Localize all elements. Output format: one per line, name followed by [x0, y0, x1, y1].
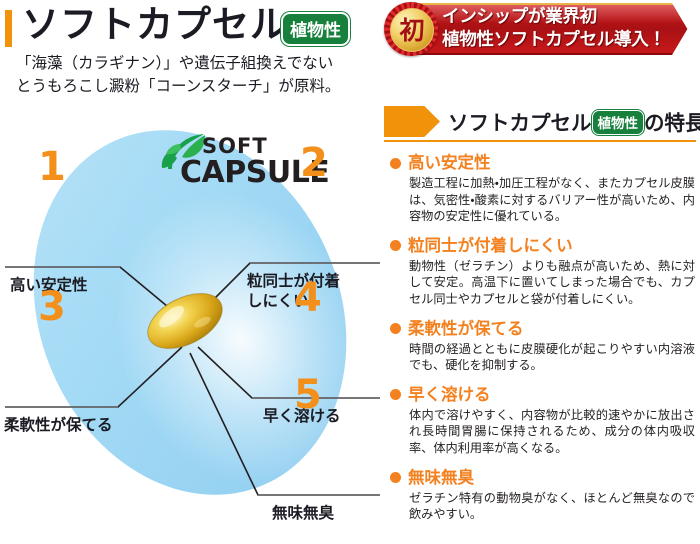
- callout-label-5: 無味無臭: [272, 503, 334, 523]
- feature-item: 高い安定性 製造工程に加熱・加圧工程がなく、またカプセル皮膜は、気密性・酸素に対…: [390, 152, 700, 225]
- features-panel-header: ソフトカプセル植物性の特長: [378, 100, 700, 142]
- features-vegetable-badge: 植物性: [592, 110, 645, 135]
- callout-label-3: 柔軟性が保てる: [4, 415, 113, 435]
- page-title: ソフトカプセル: [22, 2, 288, 48]
- softgel-capsule-icon: [143, 290, 227, 352]
- feature-title: 柔軟性が保てる: [408, 318, 524, 340]
- subtitle-line-1: 「海藻（カラギナン）」や遺伝子組換えでない: [16, 52, 376, 75]
- feature-heading: 高い安定性: [390, 152, 700, 174]
- first-medal-icon: 初: [384, 2, 438, 56]
- capsule-diagram: SOFT CAPSULE 1 高い安定性: [0, 95, 380, 535]
- feature-item: 柔軟性が保てる 時間の経過とともに皮膜硬化が起こりやすい内溶液でも、硬化を抑制す…: [390, 318, 700, 374]
- feature-body: 体内で溶けやすく、内容物が比較的速やかに放出され長時間胃腸に保持されるため、成分…: [409, 407, 695, 457]
- medal-disc: 初: [390, 8, 434, 52]
- feature-heading: 無味無臭: [390, 467, 700, 489]
- feature-title: 粒同士が付着しにくい: [408, 235, 573, 257]
- medal-label: 初: [399, 18, 424, 43]
- feature-heading: 早く溶ける: [390, 384, 700, 406]
- vegetable-badge: 植物性: [281, 12, 350, 46]
- bullet-dot-icon: [390, 323, 401, 334]
- callout-number-2: 2: [300, 143, 328, 183]
- features-title-prefix: ソフトカプセル: [448, 111, 592, 135]
- feature-item: 早く溶ける 体内で溶けやすく、内容物が比較的速やかに放出され長時間胃腸に保持され…: [390, 384, 700, 457]
- callout-number-4: 4: [294, 278, 322, 318]
- bullet-dot-icon: [390, 240, 401, 251]
- bullet-dot-icon: [390, 389, 401, 400]
- features-panel: ソフトカプセル植物性の特長 高い安定性 製造工程に加熱・加圧工程がなく、またカプ…: [378, 100, 700, 535]
- feature-heading: 粒同士が付着しにくい: [390, 235, 700, 257]
- feature-title: 無味無臭: [408, 467, 474, 489]
- infographic-root: ソフトカプセル 植物性 「海藻（カラギナン）」や遺伝子組換えでない とうもろこし…: [0, 0, 700, 535]
- feature-body: 時間の経過とともに皮膜硬化が起こりやすい内溶液でも、硬化を抑制する。: [409, 341, 695, 374]
- bullet-dot-icon: [390, 472, 401, 483]
- callout-number-3: 3: [38, 287, 66, 327]
- subtitle: 「海藻（カラギナン）」や遺伝子組換えでない とうもろこし澱粉「コーンスターチ」が…: [16, 52, 376, 98]
- callout-number-1: 1: [38, 147, 66, 187]
- features-panel-title: ソフトカプセル植物性の特長: [448, 106, 700, 137]
- feature-title: 早く溶ける: [408, 384, 491, 406]
- features-title-suffix: の特長: [644, 111, 700, 135]
- feature-item: 粒同士が付着しにくい 動物性（ゼラチン）よりも融点が高いため、熱に対して安定。高…: [390, 235, 700, 308]
- feature-body: ゼラチン特有の動物臭がなく、ほとんど無臭なので飲みやすい。: [409, 490, 695, 523]
- feature-body: 製造工程に加熱・加圧工程がなく、またカプセル皮膜は、気密性・酸素に対するバリアー…: [409, 175, 695, 225]
- feature-body: 動物性（ゼラチン）よりも融点が高いため、熱に対して安定。高温下に置いてしまった場…: [409, 258, 695, 308]
- title-accent-bar: [5, 10, 12, 47]
- header-vegetable-badge-wrap: 植物性: [281, 12, 350, 46]
- feature-item: 無味無臭 ゼラチン特有の動物臭がなく、ほとんど無臭なので飲みやすい。: [390, 467, 700, 523]
- promo-ribbon-text: インシップが業界初 植物性ソフトカプセル導入！: [442, 6, 692, 52]
- bullet-dot-icon: [390, 158, 401, 169]
- promo-line-1: インシップが業界初: [442, 6, 692, 29]
- arrow-marker-icon: [384, 106, 440, 137]
- feature-title: 高い安定性: [408, 152, 491, 174]
- promo-line-2: 植物性ソフトカプセル導入！: [442, 29, 692, 52]
- features-panel-divider: [384, 140, 696, 142]
- feature-heading: 柔軟性が保てる: [390, 318, 700, 340]
- callout-number-5: 5: [294, 375, 322, 415]
